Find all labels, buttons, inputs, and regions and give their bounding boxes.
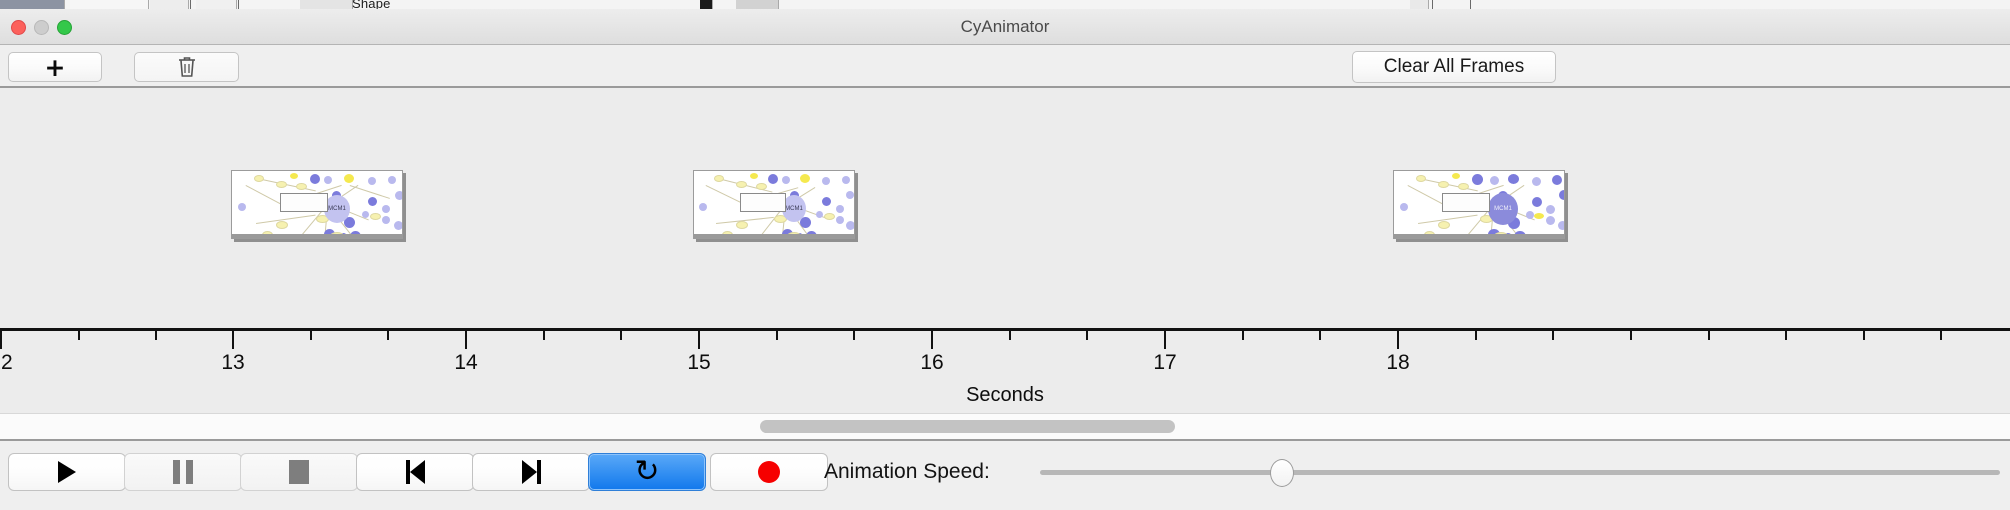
axis-tick — [1086, 331, 1088, 340]
axis-tick — [543, 331, 545, 340]
timeline-scrollbar[interactable] — [0, 413, 2010, 439]
axis-tick — [1940, 331, 1942, 340]
axis-tick-label: 17 — [1153, 351, 1176, 375]
axis-tick — [1242, 331, 1244, 340]
axis-tick-label: 15 — [687, 351, 710, 375]
network-preview: MCM1 — [232, 171, 402, 238]
plus-icon: + — [45, 55, 66, 80]
axis-caption: Seconds — [0, 384, 2010, 407]
axis-tick — [465, 331, 467, 349]
skip-start-button[interactable] — [356, 453, 474, 491]
animation-speed-track — [1040, 470, 2000, 475]
axis-tick — [1552, 331, 1554, 340]
axis-tick — [1863, 331, 1865, 340]
axis-tick — [1785, 331, 1787, 340]
axis-tick — [155, 331, 157, 340]
keyframe-thumbnail[interactable]: MCM1 — [231, 170, 403, 239]
animation-speed-slider[interactable] — [1040, 470, 2000, 476]
playback-control-bar: ↻ Animation Speed: — [0, 439, 2010, 510]
keyframe-thumbnail[interactable]: MCM1 — [693, 170, 855, 239]
hub-node-label: MCM1 — [328, 206, 346, 212]
window-title: CyAnimator — [0, 9, 2010, 45]
preview-tooltip — [740, 193, 786, 212]
pause-button[interactable] — [124, 453, 242, 491]
axis-tick — [776, 331, 778, 340]
record-icon — [758, 461, 780, 483]
axis-tick — [78, 331, 80, 340]
preview-tooltip — [280, 193, 328, 212]
stop-icon — [289, 460, 309, 484]
skip-end-icon — [522, 460, 541, 484]
clear-all-frames-label: Clear All Frames — [1384, 56, 1524, 78]
axis-tick — [310, 331, 312, 340]
axis-tick-label: 12 — [0, 351, 13, 375]
hub-node-label: MCM1 — [1494, 206, 1512, 212]
axis-tick — [1630, 331, 1632, 340]
skip-start-icon — [406, 460, 425, 484]
thumbnail-footer-bar — [694, 234, 854, 238]
add-frame-button[interactable]: + — [8, 52, 102, 82]
clear-all-frames-button[interactable]: Clear All Frames — [1352, 51, 1556, 83]
axis-tick — [1397, 331, 1399, 349]
animation-speed-label: Animation Speed: — [824, 453, 990, 491]
axis-tick — [232, 331, 234, 349]
loop-icon: ↻ — [634, 457, 659, 487]
play-button[interactable] — [8, 453, 126, 491]
axis-tick — [1164, 331, 1166, 349]
network-preview: MCM1 — [694, 171, 854, 238]
axis-tick-label: 16 — [920, 351, 943, 375]
network-preview: MCM1 — [1394, 171, 1564, 238]
axis-tick-label: 13 — [221, 351, 244, 375]
stop-button[interactable] — [240, 453, 358, 491]
skip-end-button[interactable] — [472, 453, 590, 491]
axis-tick — [931, 331, 933, 349]
axis-tick — [620, 331, 622, 340]
trash-icon — [176, 55, 198, 79]
thumbnail-footer-bar — [232, 234, 402, 238]
keyframe-thumbnail[interactable]: MCM1 — [1393, 170, 1565, 239]
hub-node: MCM1 — [1488, 193, 1518, 225]
axis-tick — [1319, 331, 1321, 340]
axis-tick — [853, 331, 855, 340]
hub-node-label: MCM1 — [785, 206, 803, 212]
delete-frame-button[interactable] — [134, 52, 239, 82]
pause-icon — [173, 460, 193, 484]
axis-tick-label: 14 — [454, 351, 477, 375]
toolbar: + Clear All Frames — [0, 45, 2010, 88]
axis-tick — [1009, 331, 1011, 340]
axis-tick — [0, 331, 2, 349]
timeline-scrollbar-thumb[interactable] — [760, 420, 1175, 433]
cyanimator-window: Shape CyAnimator + Clear All Fram — [0, 0, 2010, 510]
animation-speed-thumb[interactable] — [1270, 459, 1294, 487]
play-icon — [58, 461, 76, 483]
axis-tick — [1708, 331, 1710, 340]
axis-tick-label: 18 — [1386, 351, 1409, 375]
preview-tooltip — [1442, 193, 1490, 212]
title-bar: CyAnimator — [0, 9, 2010, 45]
axis-tick — [1475, 331, 1477, 340]
timeline-panel[interactable]: MCM1 — [0, 88, 2010, 413]
record-button[interactable] — [710, 453, 828, 491]
loop-button[interactable]: ↻ — [588, 453, 706, 491]
axis-tick — [387, 331, 389, 340]
axis-tick — [698, 331, 700, 349]
thumbnail-footer-bar — [1394, 234, 1564, 238]
